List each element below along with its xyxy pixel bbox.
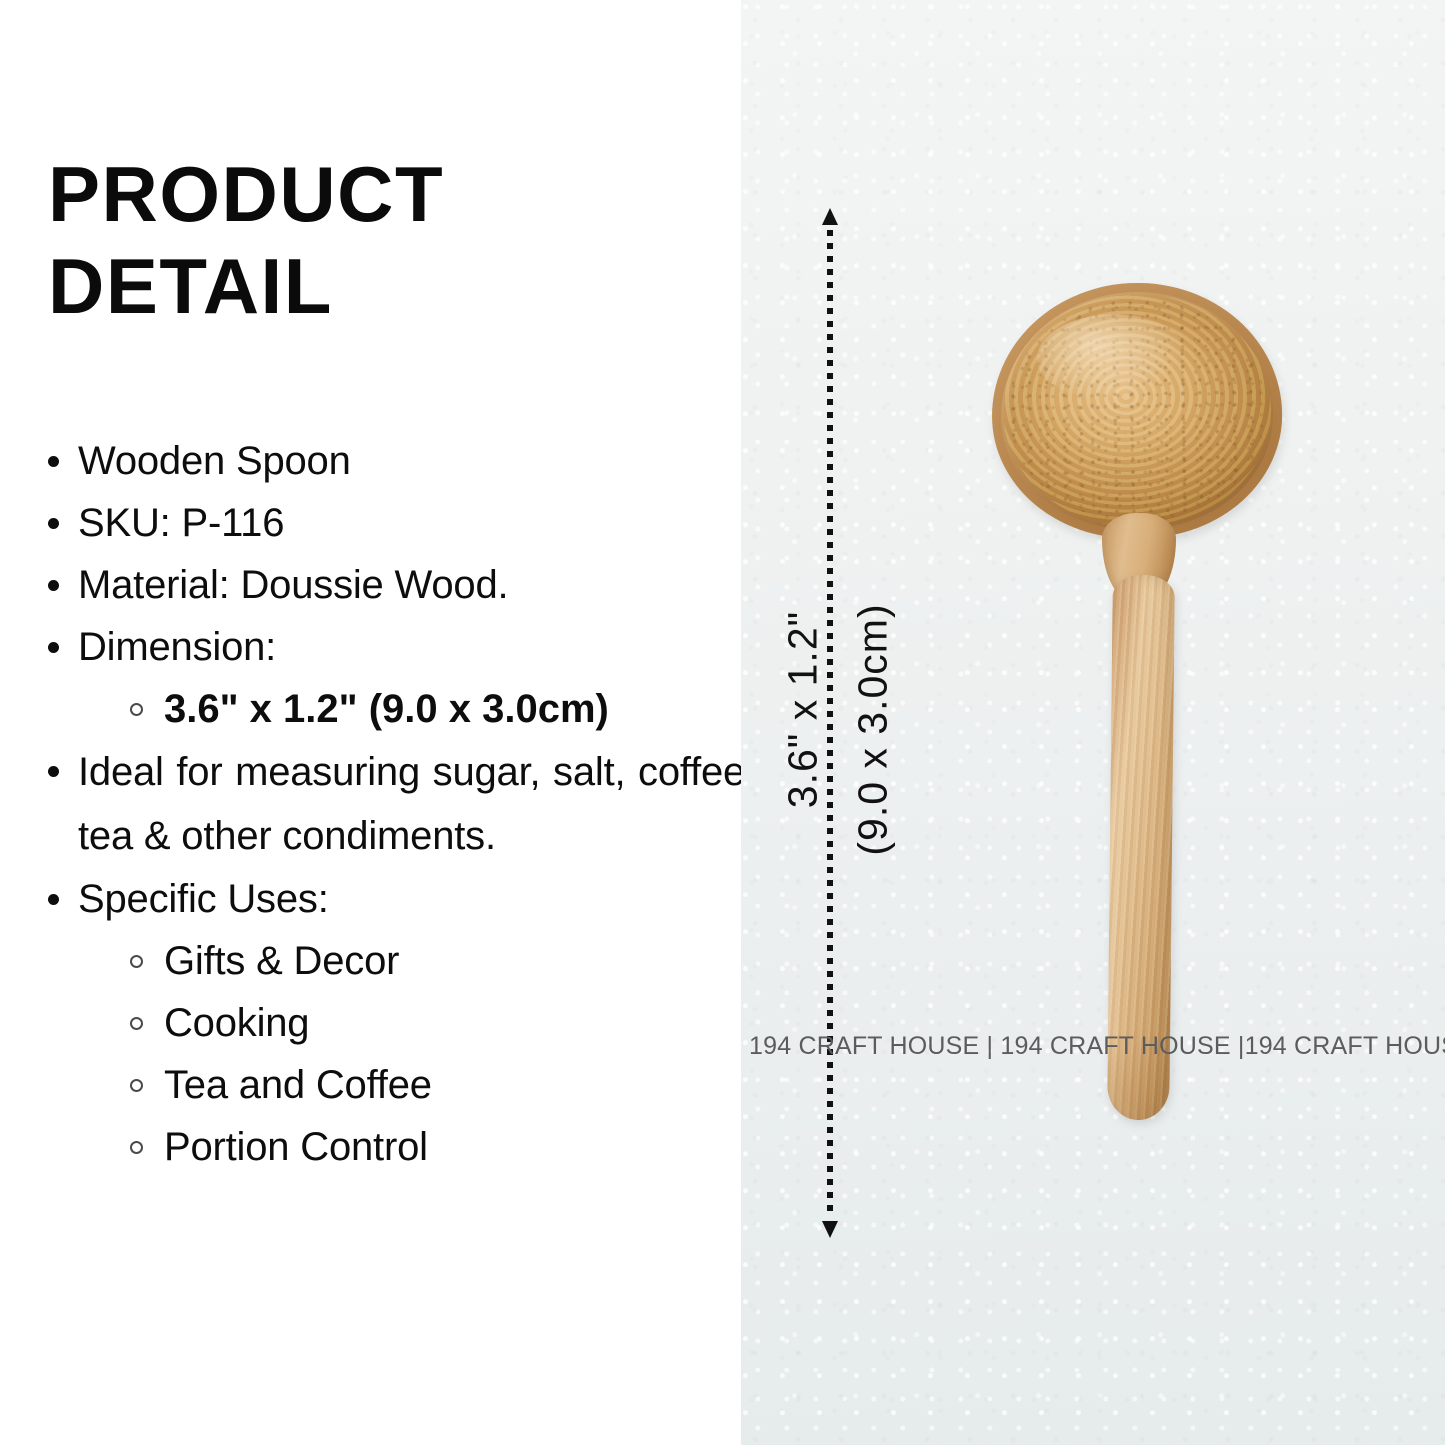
bullet-dot-icon <box>48 766 59 777</box>
sub-list-item-dimension: 3.6" x 1.2" (9.0 x 3.0cm) <box>126 678 732 740</box>
page-title-line-2: DETAIL <box>48 240 708 332</box>
list-item: Ideal for measuring sugar, salt, coffee,… <box>42 740 732 868</box>
list-item: SKU: P-116 <box>42 492 732 554</box>
list-item: Material: Doussie Wood. <box>42 554 732 616</box>
sub-list-item: Cooking <box>126 992 732 1054</box>
bullet-ring-icon <box>130 1017 143 1030</box>
bullet-dot-icon <box>48 456 59 467</box>
page-title-line-1: PRODUCT <box>48 148 708 240</box>
page-title: PRODUCT DETAIL <box>48 148 708 332</box>
list-item: Specific Uses: <box>42 868 732 930</box>
product-photo-panel: 3.6" x 1.2" (9.0 x 3.0cm) 194 CRAFT HOUS… <box>741 0 1445 1445</box>
product-detail-page: PRODUCT DETAIL Wooden Spoon SKU: P-116 M… <box>0 0 1445 1445</box>
bullet-ring-icon <box>130 955 143 968</box>
bullet-dot-icon <box>48 894 59 905</box>
sub-list-item-label: Gifts & Decor <box>164 939 399 983</box>
sub-list-item-label: Portion Control <box>164 1125 428 1169</box>
watermark-text: 194 CRAFT HOUSE | 194 CRAFT HOUSE |194 C… <box>749 1032 1445 1061</box>
product-info-panel: PRODUCT DETAIL Wooden Spoon SKU: P-116 M… <box>0 0 741 1445</box>
spoon-bowl <box>990 280 1284 540</box>
bullet-dot-icon <box>48 642 59 653</box>
bullet-dot-icon <box>48 518 59 529</box>
bullet-ring-icon <box>130 1141 143 1154</box>
dimension-label-inches: 3.6" x 1.2" <box>780 530 827 890</box>
sub-list-item: Gifts & Decor <box>126 930 732 992</box>
dotted-line <box>827 230 833 1216</box>
arrow-up-icon <box>822 208 838 225</box>
bullet-ring-icon <box>130 1079 143 1092</box>
list-item-label: Specific Uses: <box>78 877 329 921</box>
list-item: Wooden Spoon <box>42 430 732 492</box>
list-item-label: SKU: P-116 <box>78 501 284 545</box>
sub-list-item-label: Tea and Coffee <box>164 1063 432 1107</box>
sub-list-item: Portion Control <box>126 1116 732 1178</box>
list-item-label: Wooden Spoon <box>78 439 351 483</box>
wooden-spoon-image <box>986 275 1296 1135</box>
list-item-label: Dimension: <box>78 625 276 669</box>
list-item-label: Ideal for measuring sugar, salt, coffee,… <box>78 740 756 868</box>
bullet-ring-icon <box>130 703 143 716</box>
sub-list-item-label: Cooking <box>164 1001 309 1045</box>
list-item: Dimension: <box>42 616 732 678</box>
dimension-label-cm: (9.0 x 3.0cm) <box>850 550 897 910</box>
spec-list: Wooden Spoon SKU: P-116 Material: Doussi… <box>42 430 732 1178</box>
list-item-label: Material: Doussie Wood. <box>78 563 508 607</box>
bullet-dot-icon <box>48 580 59 591</box>
sub-list-item: Tea and Coffee <box>126 1054 732 1116</box>
arrow-down-icon <box>822 1221 838 1238</box>
dimension-value: 3.6" x 1.2" (9.0 x 3.0cm) <box>164 687 609 731</box>
